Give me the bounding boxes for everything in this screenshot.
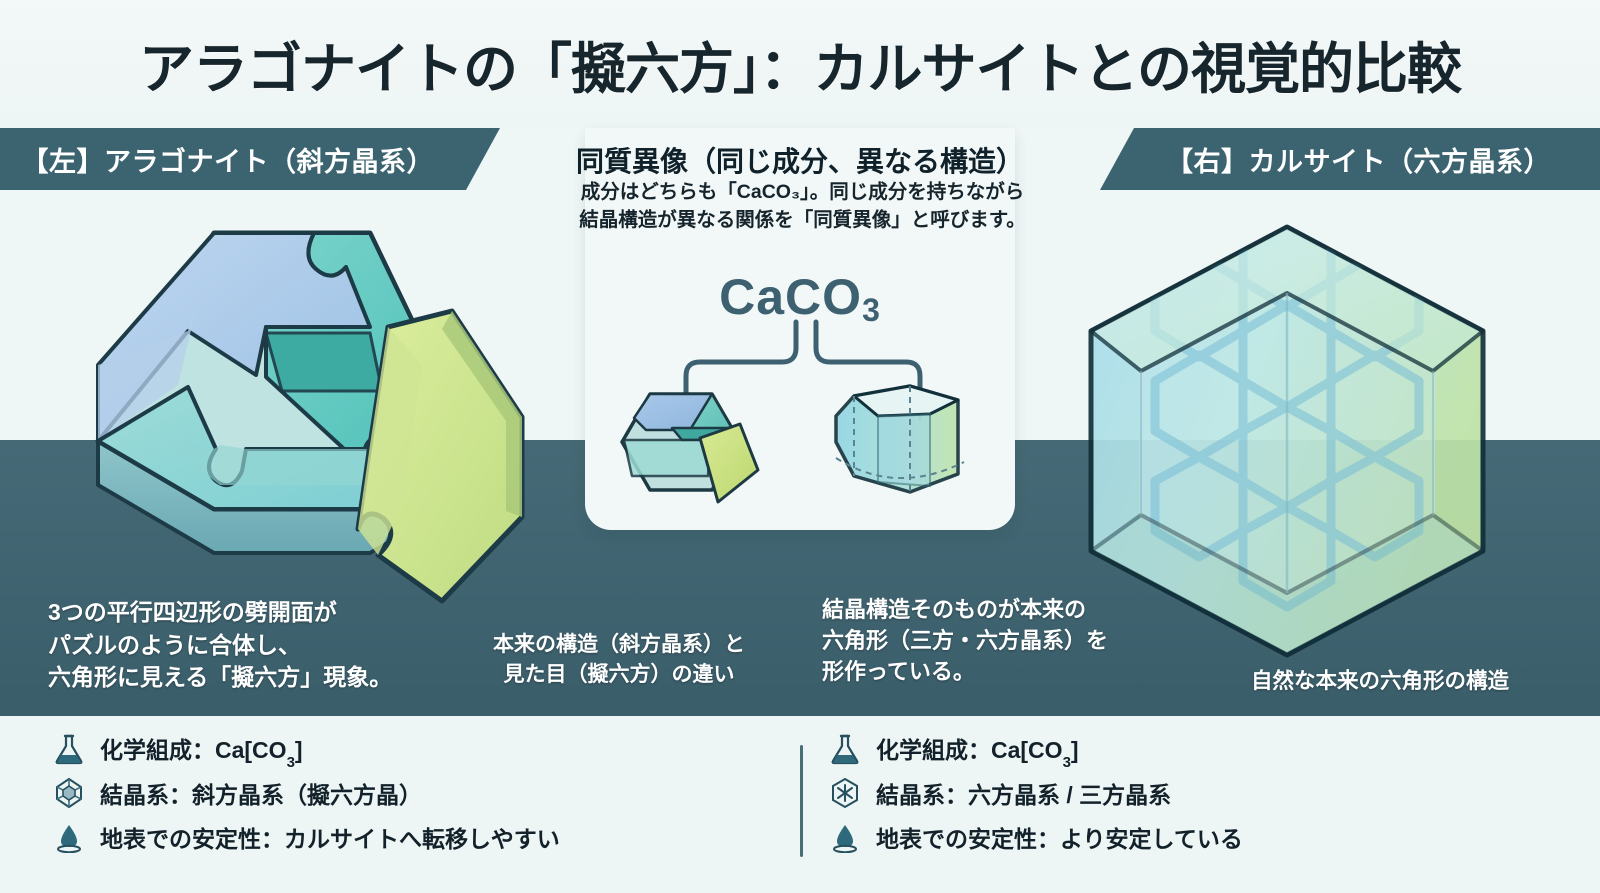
spec-row-stability: 地表での安定性：カルサイトへ転移しやすい (52, 818, 560, 856)
banner-right-label: 【右】カルサイト（六方晶系） (1166, 140, 1551, 179)
droplet-icon (52, 820, 86, 854)
caption-left-line1: 3つの平行四辺形の劈開面が (48, 596, 392, 629)
banner-left-label: 【左】アラゴナイト（斜方晶系） (22, 140, 435, 179)
center-subtext-line2: 結晶構造が異なる関係を「同質異像」と呼びます。 (530, 206, 1075, 234)
flask-icon (828, 732, 862, 766)
spec-composition-text: 化学組成：Ca[CO3] (100, 731, 303, 768)
caption-mid-left: 本来の構造（斜方晶系）と 見た目（擬六方）の違い (484, 630, 754, 690)
caption-right: 自然な本来の六角形の構造 (1180, 666, 1580, 697)
aragonite-mini-icon (612, 378, 762, 508)
caption-left-line2: パズルのように合体し、 (48, 629, 392, 662)
center-subtext-line1: 成分はどちらも「CaCO₃」。同じ成分を持ちながら (530, 178, 1075, 206)
spec-list-calcite: 化学組成：Ca[CO3] 結晶系：六方晶系 / 三方晶系 (828, 730, 1243, 862)
bottom-divider (800, 745, 803, 857)
banner-right-calcite: 【右】カルサイト（六方晶系） (1100, 128, 1600, 190)
caption-mid-right-line1: 結晶構造そのものが本来の (822, 594, 1108, 625)
caption-mid-left-line2: 見た目（擬六方）の違い (484, 660, 754, 690)
caption-mid-left-line1: 本来の構造（斜方晶系）と (484, 630, 754, 660)
spec-crystal-system-text: 結晶系：斜方晶系（擬六方晶） (100, 776, 422, 810)
caption-mid-right-line2: 六角形（三方・六方晶系）を (822, 625, 1108, 656)
gem-icon (52, 776, 86, 810)
spec-list-aragonite: 化学組成：Ca[CO3] 結晶系：斜方晶系（擬六方晶） 地表での安定性：カルサイ… (52, 730, 560, 862)
center-heading: 同質異像（同じ成分、異なる構造） (520, 140, 1080, 180)
spec-row-crystal-system: 結晶系：六方晶系 / 三方晶系 (828, 774, 1243, 812)
spec-row-stability: 地表での安定性：より安定している (828, 818, 1243, 856)
caption-mid-right-line3: 形作っている。 (822, 656, 1108, 687)
droplet-icon (828, 820, 862, 854)
spec-row-composition: 化学組成：Ca[CO3] (52, 730, 560, 768)
spec-crystal-system-text: 結晶系：六方晶系 / 三方晶系 (876, 776, 1171, 810)
spec-row-composition: 化学組成：Ca[CO3] (828, 730, 1243, 768)
page-title: アラゴナイトの「擬六方」：カルサイトとの視覚的比較 (0, 24, 1600, 104)
hex-snow-icon (828, 776, 862, 810)
calcite-hexagon-crystal (1055, 215, 1565, 665)
flask-icon (52, 732, 86, 766)
banner-left-aragonite: 【左】アラゴナイト（斜方晶系） (0, 128, 500, 190)
spec-stability-text: 地表での安定性：カルサイトへ転移しやすい (100, 820, 560, 854)
caption-mid-right: 結晶構造そのものが本来の 六角形（三方・六方晶系）を 形作っている。 (822, 594, 1108, 688)
spec-row-crystal-system: 結晶系：斜方晶系（擬六方晶） (52, 774, 560, 812)
center-subtext: 成分はどちらも「CaCO₃」。同じ成分を持ちながら 結晶構造が異なる関係を「同質… (530, 178, 1075, 235)
calcite-mini-icon (818, 370, 978, 515)
infographic-canvas: アラゴナイトの「擬六方」：カルサイトとの視覚的比較 【左】アラゴナイト（斜方晶系… (0, 0, 1600, 893)
caption-left-line3: 六角形に見える「擬六方」現象。 (48, 661, 392, 694)
caco3-formula-main: CaCO (719, 269, 862, 325)
spec-composition-text: 化学組成：Ca[CO3] (876, 731, 1079, 768)
spec-stability-text: 地表での安定性：より安定している (876, 820, 1243, 854)
caption-left: 3つの平行四辺形の劈開面が パズルのように合体し、 六角形に見える「擬六方」現象… (48, 596, 392, 694)
